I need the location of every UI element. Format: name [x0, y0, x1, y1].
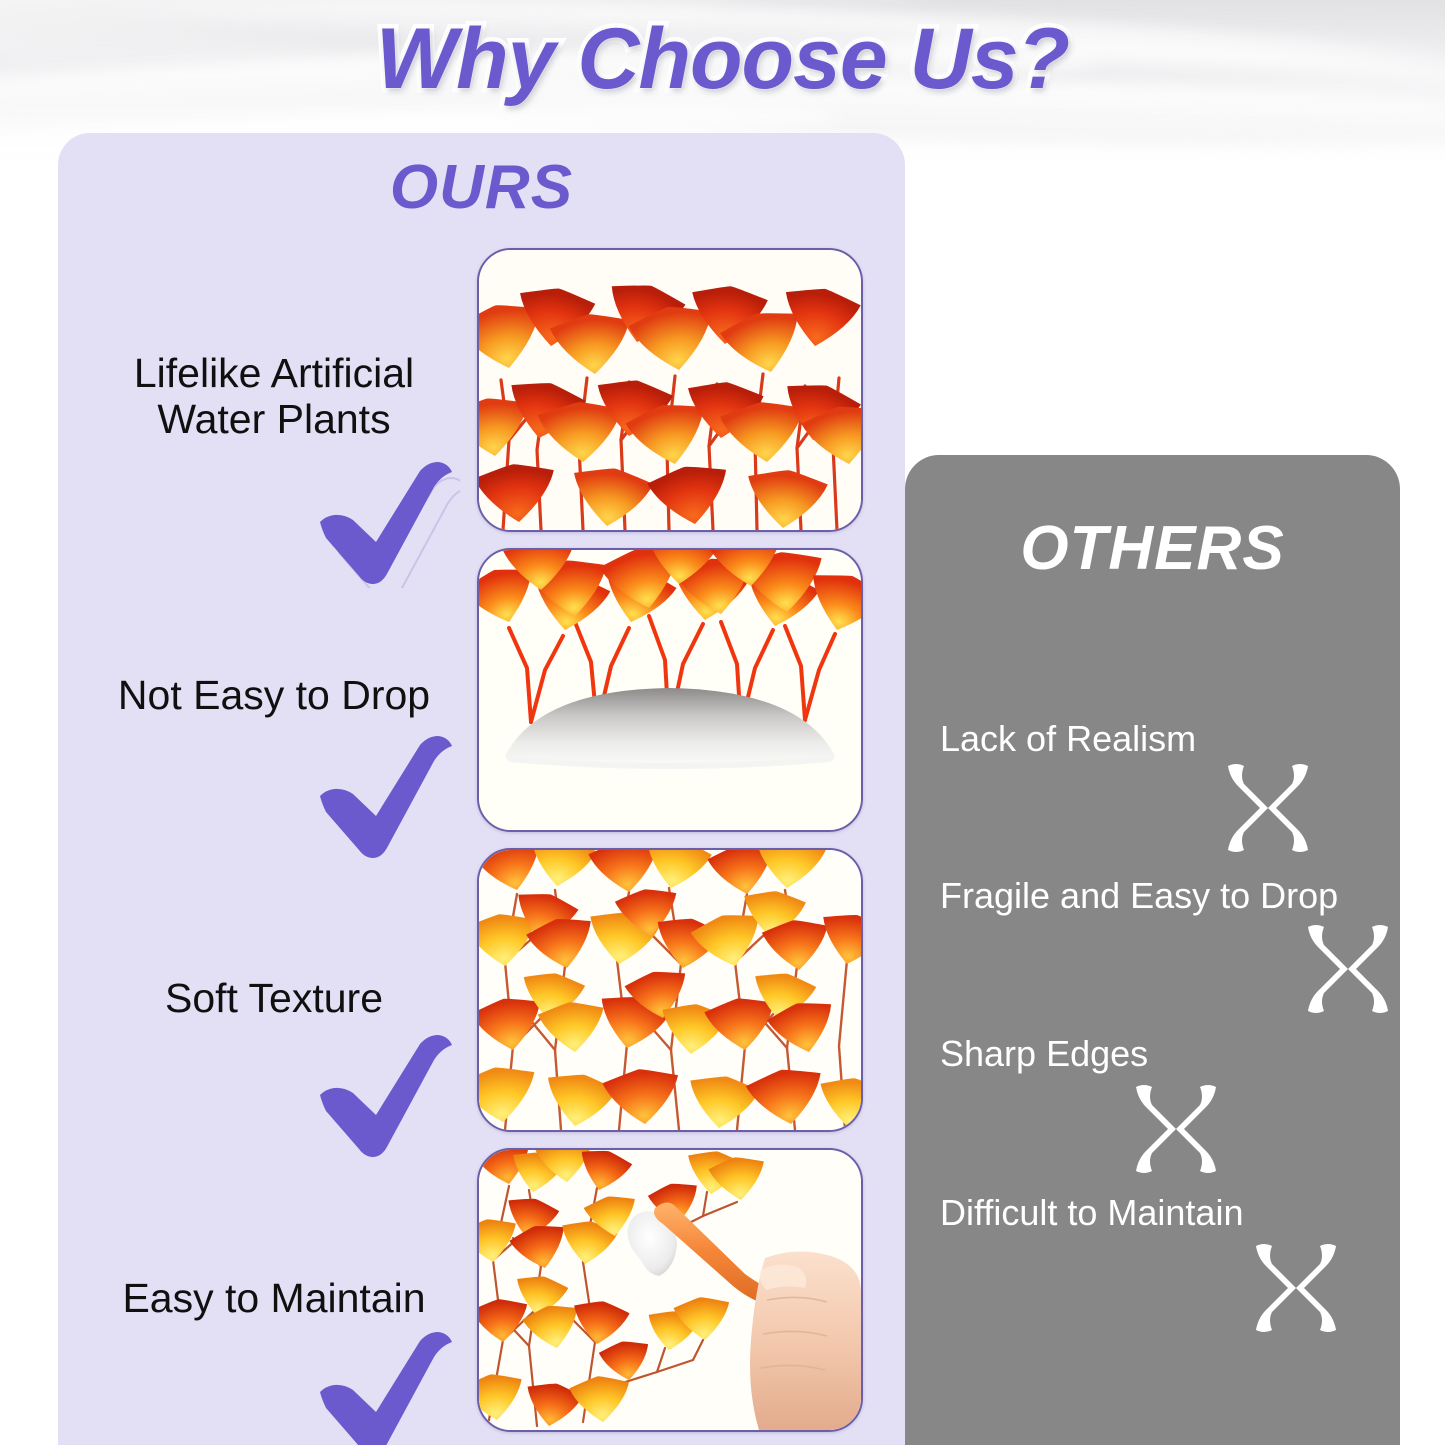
feature-label-1-line1: Lifelike Artificial [134, 350, 414, 396]
check-icon [310, 1330, 460, 1445]
ours-heading: OURS [58, 152, 905, 223]
check-icon [310, 460, 460, 588]
others-label-2: Fragile and Easy to Drop [940, 875, 1338, 917]
feature-label-1: Lifelike Artificial Water Plants [78, 350, 470, 443]
product-photo-4 [477, 1148, 863, 1432]
feature-label-3-line1: Soft Texture [165, 975, 383, 1021]
others-label-3: Sharp Edges [940, 1033, 1148, 1075]
x-icon [1220, 760, 1316, 856]
product-photo-1 [477, 248, 863, 532]
product-photo-3 [477, 848, 863, 1132]
x-icon [1300, 921, 1396, 1017]
check-icon [310, 1033, 460, 1161]
page-title: Why Choose Us? [0, 10, 1445, 109]
others-label-4: Difficult to Maintain [940, 1192, 1243, 1234]
others-heading: OTHERS [905, 513, 1400, 584]
x-icon [1248, 1240, 1344, 1336]
feature-label-2-line1: Not Easy to Drop [118, 672, 430, 718]
check-icon [310, 734, 460, 862]
feature-label-4-line1: Easy to Maintain [122, 1275, 425, 1321]
others-label-1: Lack of Realism [940, 718, 1196, 760]
comparison-infographic: Why Choose Us? OURS OTHERS Lifelike Arti… [0, 0, 1445, 1445]
x-icon [1128, 1081, 1224, 1177]
feature-label-3: Soft Texture [78, 975, 470, 1021]
feature-label-1-line2: Water Plants [157, 396, 390, 442]
product-photo-2 [477, 548, 863, 832]
feature-label-4: Easy to Maintain [78, 1275, 470, 1321]
feature-label-2: Not Easy to Drop [78, 672, 470, 718]
